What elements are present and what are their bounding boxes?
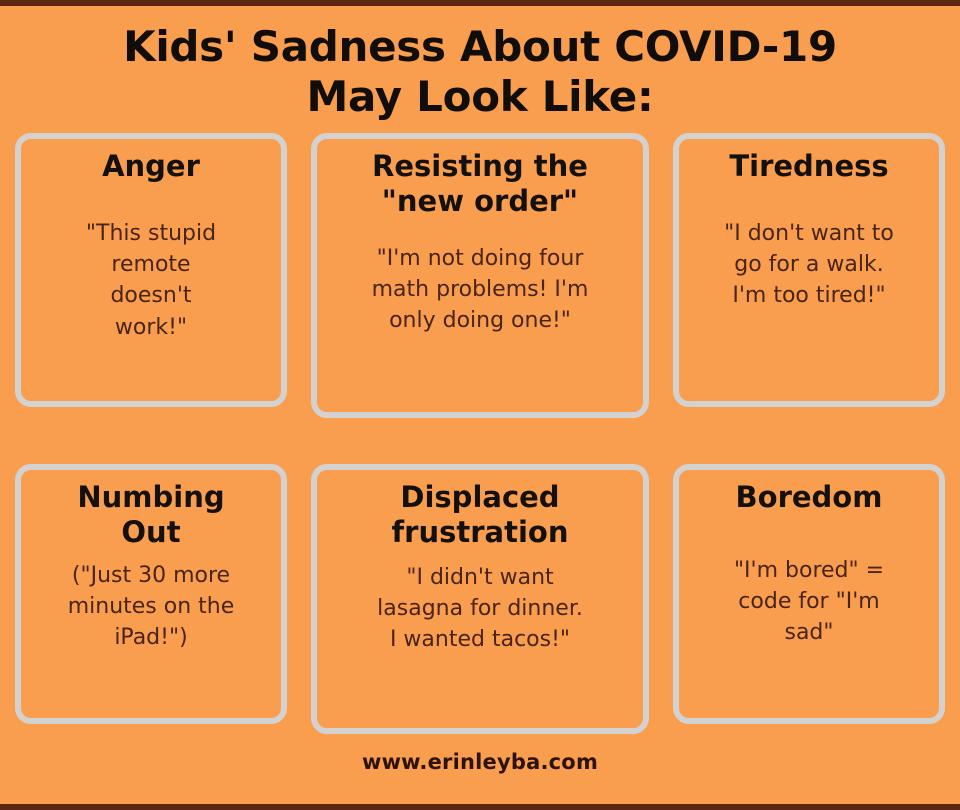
title-line-1: Kids' Sadness About COVID-19 [30, 22, 930, 72]
card-row-bottom: Numbing Out ("Just 30 more minutes on th… [15, 464, 945, 734]
card-boredom: Boredom "I'm bored" = code for "I'm sad" [673, 464, 945, 724]
infographic-poster: Kids' Sadness About COVID-19 May Look Li… [0, 6, 960, 804]
card-numbing-out: Numbing Out ("Just 30 more minutes on th… [15, 464, 287, 724]
bottom-edge-bar [0, 804, 960, 810]
card-row-top: Anger "This stupid remote doesn't work!"… [15, 133, 945, 418]
page-title: Kids' Sadness About COVID-19 May Look Li… [30, 22, 930, 121]
footer-website-url: www.erinleyba.com [362, 750, 598, 774]
card-displaced-frustration: Displaced frustration "I didn't want las… [311, 464, 649, 734]
card-title: Resisting the "new order" [372, 149, 588, 219]
card-quote: "I don't want to go for a walk. I'm too … [724, 218, 894, 312]
card-quote: "This stupid remote doesn't work!" [86, 218, 216, 343]
card-quote: ("Just 30 more minutes on the iPad!") [68, 560, 235, 654]
card-title: Anger [102, 149, 200, 184]
card-anger: Anger "This stupid remote doesn't work!" [15, 133, 287, 407]
card-title: Tiredness [729, 149, 888, 184]
card-title: Numbing Out [77, 480, 224, 550]
card-grid: Anger "This stupid remote doesn't work!"… [15, 133, 945, 734]
card-quote: "I didn't want lasagna for dinner. I wan… [377, 562, 583, 656]
card-quote: "I'm bored" = code for "I'm sad" [734, 555, 884, 649]
title-line-2: May Look Like: [30, 72, 930, 122]
card-quote: "I'm not doing four math problems! I'm o… [372, 243, 589, 337]
card-title: Displaced frustration [392, 480, 569, 550]
card-tiredness: Tiredness "I don't want to go for a walk… [673, 133, 945, 407]
card-title: Boredom [736, 480, 883, 515]
card-resisting-the-new-order: Resisting the "new order" "I'm not doing… [311, 133, 649, 418]
